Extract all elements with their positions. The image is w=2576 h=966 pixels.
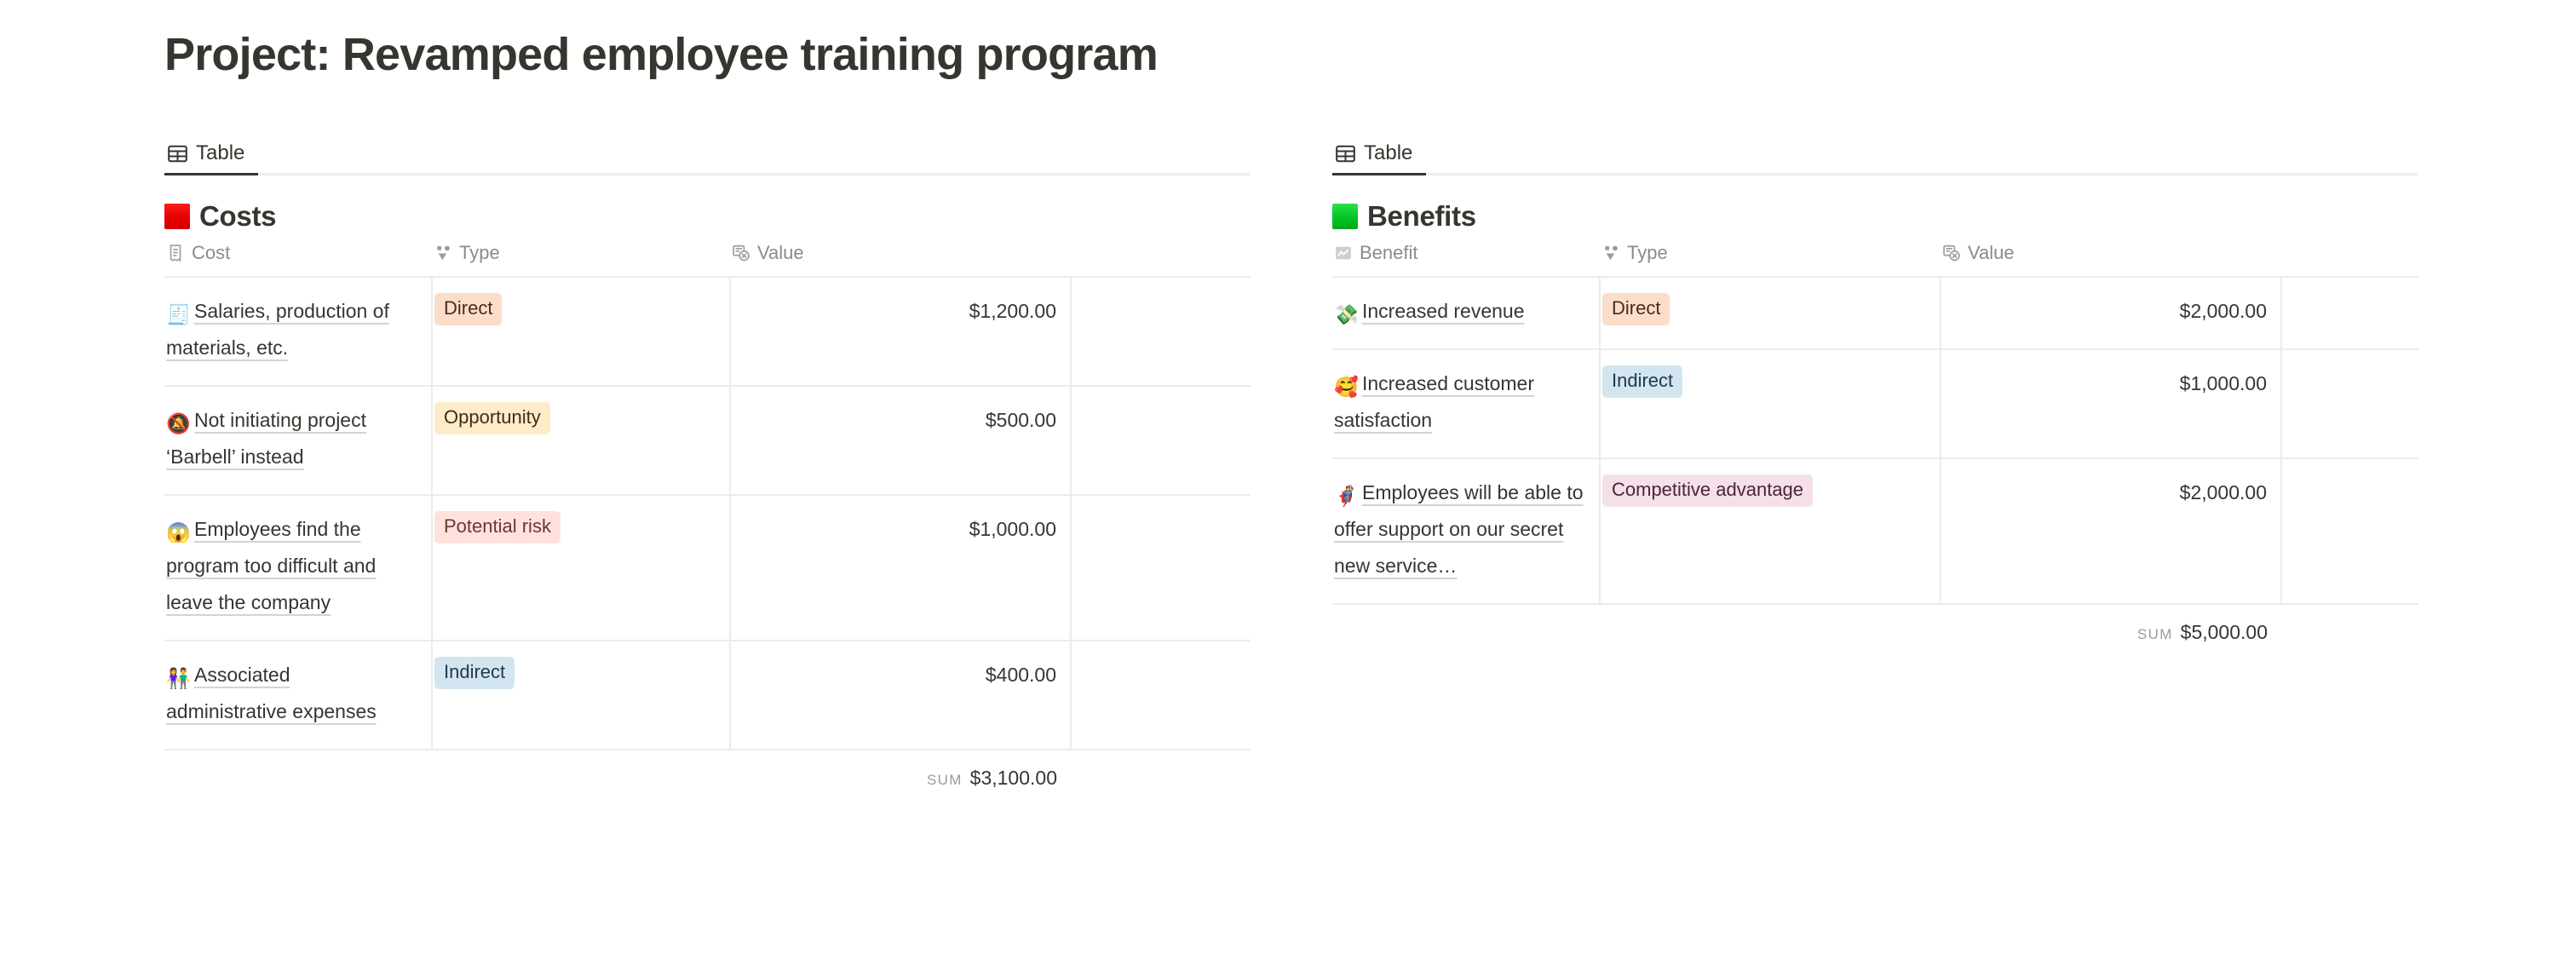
- column-header-label: Benefit: [1360, 242, 1418, 264]
- column-header-cost[interactable]: Cost: [164, 242, 432, 277]
- table-row[interactable]: 😱Employees find the program too difficul…: [164, 495, 1251, 641]
- select-icon: [434, 244, 452, 262]
- value-text: $2,000.00: [1943, 474, 2268, 511]
- table-row[interactable]: 🥰Increased customer satisfaction Indirec…: [1332, 349, 2418, 458]
- cell-value[interactable]: $1,000.00: [730, 495, 1071, 641]
- money-with-wings-emoji-icon: 💸: [1334, 296, 1356, 319]
- smiling-face-with-hearts-emoji-icon: 🥰: [1334, 369, 1356, 391]
- cell-value[interactable]: $2,000.00: [1941, 277, 2281, 349]
- database-name: Costs: [199, 199, 276, 233]
- sum-label: SUM: [2137, 626, 2173, 643]
- footer-spacer: [164, 750, 432, 808]
- view-tab-bar-costs: Table: [164, 136, 1251, 175]
- receipt-icon: [166, 244, 185, 262]
- value-text: $1,200.00: [733, 293, 1058, 330]
- column-header-benefit[interactable]: Benefit: [1332, 242, 1600, 277]
- table-row[interactable]: 🧾Salaries, production of materials, etc.…: [164, 277, 1251, 386]
- database-title-costs[interactable]: Costs: [164, 199, 1251, 233]
- red-square-icon: [164, 204, 190, 229]
- value-text: $400.00: [733, 657, 1058, 693]
- tab-label: Table: [1364, 141, 1412, 165]
- sum-value: $3,100.00: [970, 766, 1057, 790]
- cell-value[interactable]: $500.00: [730, 386, 1071, 495]
- cell-type[interactable]: Indirect: [1600, 349, 1941, 458]
- green-square-icon: [1332, 204, 1358, 229]
- cell-name[interactable]: 🦸Employees will be able to offer support…: [1332, 458, 1600, 604]
- cell-type[interactable]: Direct: [1600, 277, 1941, 349]
- cell-empty[interactable]: [2281, 458, 2418, 604]
- cell-type[interactable]: Opportunity: [432, 386, 730, 495]
- table-row[interactable]: 🔕Not initiating project ‘Barbell’ instea…: [164, 386, 1251, 495]
- cell-empty[interactable]: [1071, 641, 1251, 750]
- receipt-emoji-icon: 🧾: [166, 296, 188, 319]
- cell-empty[interactable]: [1071, 386, 1251, 495]
- tab-label: Table: [196, 141, 244, 165]
- table-icon: [167, 143, 188, 164]
- superhero-emoji-icon: 🦸: [1334, 478, 1356, 500]
- footer-spacer: [432, 750, 730, 808]
- two-people-emoji-icon: 👫: [166, 660, 188, 682]
- active-tab-underline: [1332, 173, 2418, 175]
- type-tag: Direct: [1602, 293, 1670, 325]
- table-footer-row: SUM $3,100.00: [164, 750, 1251, 808]
- row-title: Employees find the program too difficult…: [166, 518, 376, 613]
- sum-cell[interactable]: SUM $3,100.00: [730, 750, 1071, 808]
- type-tag: Indirect: [434, 657, 515, 689]
- formula-icon: [1942, 244, 1961, 262]
- screaming-face-emoji-icon: 😱: [166, 515, 188, 537]
- table-row[interactable]: 💸Increased revenue Direct $2,000.00: [1332, 277, 2418, 349]
- cell-name[interactable]: 🧾Salaries, production of materials, etc.: [164, 277, 432, 386]
- tab-table-benefits[interactable]: Table: [1332, 136, 1415, 170]
- cell-empty[interactable]: [2281, 277, 2418, 349]
- column-costs: Table Costs: [164, 136, 1251, 808]
- database-title-benefits[interactable]: Benefits: [1332, 199, 2418, 233]
- column-header-empty: [1071, 242, 1251, 277]
- column-header-label: Type: [459, 242, 500, 264]
- cell-value[interactable]: $1,000.00: [1941, 349, 2281, 458]
- footer-spacer: [1071, 750, 1251, 808]
- column-header-label: Value: [757, 242, 804, 264]
- view-tab-bar-benefits: Table: [1332, 136, 2418, 175]
- table-header-row: Cost: [164, 242, 1251, 277]
- column-benefits: Table Benefits: [1332, 136, 2418, 663]
- footer-spacer: [1332, 604, 1600, 663]
- costs-table: Cost: [164, 242, 1251, 808]
- table-header-row: Benefit: [1332, 242, 2418, 277]
- row-title: Not initiating project ‘Barbell’ instead: [166, 409, 366, 468]
- cell-empty[interactable]: [1071, 277, 1251, 386]
- type-tag: Indirect: [1602, 365, 1682, 398]
- table-row[interactable]: 👫Associated administrative expenses Indi…: [164, 641, 1251, 750]
- table-footer-row: SUM $5,000.00: [1332, 604, 2418, 663]
- column-list: Table Costs: [0, 136, 2576, 808]
- type-tag: Direct: [434, 293, 502, 325]
- column-header-value[interactable]: Value: [1941, 242, 2281, 277]
- footer-spacer: [2281, 604, 2418, 663]
- value-text: $1,000.00: [1943, 365, 2268, 402]
- chart-icon: [1334, 244, 1353, 262]
- column-header-label: Value: [1968, 242, 2015, 264]
- cell-value[interactable]: $1,200.00: [730, 277, 1071, 386]
- cell-name[interactable]: 😱Employees find the program too difficul…: [164, 495, 432, 641]
- cell-type[interactable]: Indirect: [432, 641, 730, 750]
- row-title: Employees will be able to offer support …: [1334, 481, 1584, 577]
- value-text: $2,000.00: [1943, 293, 2268, 330]
- bell-muted-emoji-icon: 🔕: [166, 405, 188, 428]
- cell-empty[interactable]: [1071, 495, 1251, 641]
- cell-type[interactable]: Competitive advantage: [1600, 458, 1941, 604]
- row-title: Increased customer satisfaction: [1334, 372, 1534, 431]
- column-header-label: Type: [1627, 242, 1668, 264]
- notion-page: Project: Revamped employee training prog…: [0, 0, 2576, 966]
- cell-value[interactable]: $400.00: [730, 641, 1071, 750]
- cell-name[interactable]: 💸Increased revenue: [1332, 277, 1600, 349]
- row-title: Salaries, production of materials, etc.: [166, 300, 389, 359]
- column-header-value[interactable]: Value: [730, 242, 1071, 277]
- type-tag: Competitive advantage: [1602, 474, 1813, 507]
- page-title[interactable]: Project: Revamped employee training prog…: [164, 27, 1158, 82]
- select-icon: [1601, 244, 1620, 262]
- cell-name[interactable]: 🥰Increased customer satisfaction: [1332, 349, 1600, 458]
- table-row[interactable]: 🦸Employees will be able to offer support…: [1332, 458, 2418, 604]
- value-text: $500.00: [733, 402, 1058, 439]
- footer-spacer: [1600, 604, 1941, 663]
- database-name: Benefits: [1367, 199, 1476, 233]
- type-tag: Opportunity: [434, 402, 550, 434]
- row-title: Associated administrative expenses: [166, 664, 377, 722]
- cell-type[interactable]: Direct: [432, 277, 730, 386]
- cell-name[interactable]: 👫Associated administrative expenses: [164, 641, 432, 750]
- cell-value[interactable]: $2,000.00: [1941, 458, 2281, 604]
- column-header-type[interactable]: Type: [432, 242, 730, 277]
- sum-label: SUM: [927, 772, 963, 789]
- value-text: $1,000.00: [733, 511, 1058, 548]
- benefits-table: Benefit: [1332, 242, 2418, 663]
- column-header-label: Cost: [192, 242, 230, 264]
- cell-name[interactable]: 🔕Not initiating project ‘Barbell’ instea…: [164, 386, 432, 495]
- type-tag: Potential risk: [434, 511, 561, 543]
- cell-empty[interactable]: [2281, 349, 2418, 458]
- active-tab-underline: [164, 173, 1251, 175]
- formula-icon: [732, 244, 750, 262]
- sum-value: $5,000.00: [2181, 620, 2268, 644]
- table-icon: [1335, 143, 1356, 164]
- column-header-empty: [2281, 242, 2418, 277]
- row-title: Increased revenue: [1362, 300, 1525, 322]
- cell-type[interactable]: Potential risk: [432, 495, 730, 641]
- tab-table-costs[interactable]: Table: [164, 136, 247, 170]
- column-header-type[interactable]: Type: [1600, 242, 1941, 277]
- sum-cell[interactable]: SUM $5,000.00: [1941, 604, 2281, 663]
